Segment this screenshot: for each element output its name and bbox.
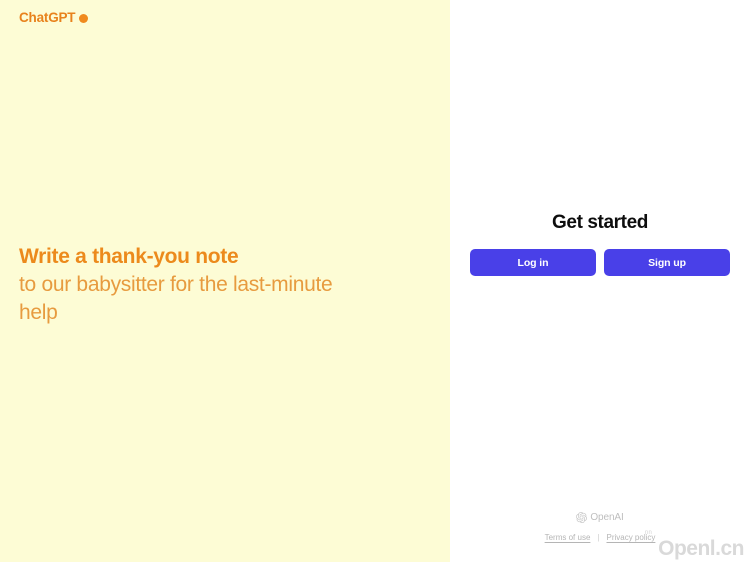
openai-logo-icon bbox=[576, 512, 587, 523]
footer: OpenAI Terms of use | Privacy policy bbox=[450, 512, 750, 542]
openai-wordmark: OpenAI bbox=[590, 513, 623, 523]
orange-dot-icon bbox=[79, 14, 88, 23]
promo-copy: Write a thank-you note to our babysitter… bbox=[19, 243, 419, 327]
openai-brand: OpenAI bbox=[576, 512, 623, 523]
auth-content: Get started Log in Sign up bbox=[450, 212, 750, 276]
chatgpt-welcome-screen: ChatGPT Write a thank-you note to our ba… bbox=[0, 0, 750, 562]
terms-of-use-link[interactable]: Terms of use bbox=[545, 534, 591, 542]
auth-actions: Log in Sign up bbox=[470, 249, 730, 276]
auth-panel: Get started Log in Sign up OpenAI Terms … bbox=[450, 0, 750, 562]
signup-button[interactable]: Sign up bbox=[604, 249, 730, 276]
legal-separator: | bbox=[597, 534, 599, 542]
chatgpt-brand-logo[interactable]: ChatGPT bbox=[19, 11, 88, 25]
privacy-policy-link[interactable]: Privacy policy bbox=[606, 534, 655, 542]
brand-name-label: ChatGPT bbox=[19, 11, 75, 25]
legal-links: Terms of use | Privacy policy bbox=[545, 534, 656, 542]
login-button[interactable]: Log in bbox=[470, 249, 596, 276]
promo-line-2: to our babysitter for the last-minute bbox=[19, 271, 419, 299]
page-title: Get started bbox=[552, 212, 648, 234]
promo-line-1: Write a thank-you note bbox=[19, 243, 419, 271]
promo-panel: ChatGPT Write a thank-you note to our ba… bbox=[0, 0, 450, 562]
promo-line-3: help bbox=[19, 299, 419, 327]
